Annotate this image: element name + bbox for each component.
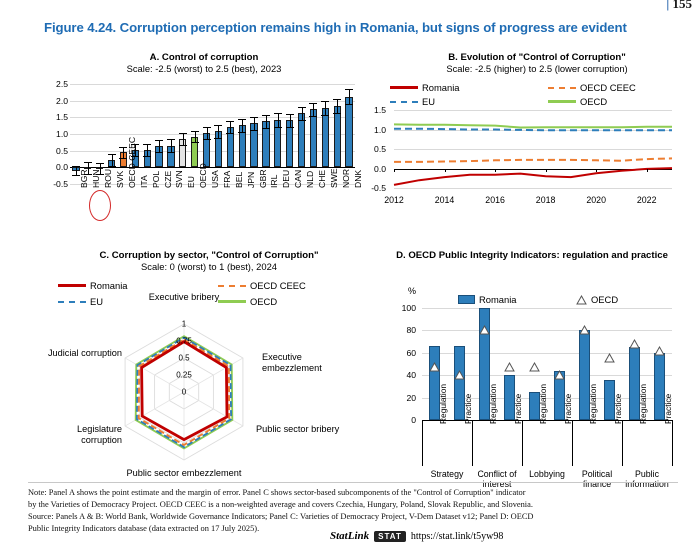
panel-c-axis-label: Public sector embezzlement [124,468,244,479]
panel-b-ytick: 1.5 [362,105,386,115]
panel-b-tick [445,169,446,172]
panel-c-axis-label: Legislature corruption [36,424,122,445]
panel-a-xlabel: HUN [91,169,101,188]
panel-d-oecd-marker [504,362,515,372]
group-separator [672,420,673,466]
panel-a-errorbar-cap [191,142,199,143]
panel-a-errorbar [123,147,124,158]
panel-a-errorbar [218,125,219,138]
panel-d-oecd-marker [629,339,640,349]
panel-a-xlabel: POL [151,171,161,188]
radar-rtick: 0.25 [176,371,192,380]
panel-d-ytick: 20 [390,393,416,403]
panel-d-oecd-marker [604,353,615,363]
panel-b-legend: RomaniaOECD CEECEUOECD [390,82,690,108]
panel-a-errorbar-cap [345,89,353,90]
panel-a-errorbar-cap [321,115,329,116]
statlink-url[interactable]: https://stat.link/t5yw98 [411,531,504,542]
note-line-3: Source: Panels A & B: World Bank, Worldw… [28,511,678,523]
panel-a-errorbar-cap [309,116,317,117]
group-separator [472,420,473,466]
note-line-2: by the Varieties of Democracy Project. O… [28,499,678,511]
group-separator [422,420,423,466]
panel-a-ytick: 1.0 [40,129,68,139]
panel-a-errorbar-cap [238,119,246,120]
legend-swatch-icon [548,100,576,103]
panel-a-errorbar-cap [84,162,92,163]
panel-b-legend-item: OECD [548,96,607,107]
panel-d-sublabel: Regulation [438,384,448,424]
panel-a-ytick: 0.5 [40,146,68,156]
panel-d-ytick: 60 [390,348,416,358]
panel-a-errorbar-cap [286,127,294,128]
panel-a-errorbar [230,121,231,133]
panel-b-legend-item: OECD CEEC [548,82,636,93]
panel-b-series-romania [394,168,672,185]
panel-d: D. OECD Public Integrity Indicators: reg… [372,250,692,485]
panel-c-legend-label: Romania [90,280,128,291]
panel-a-errorbar-cap [321,101,329,102]
panel-a-errorbar [183,133,184,145]
panel-a-xlabel: CAN [293,170,303,188]
panel-d-legend-label: OECD [591,294,618,305]
panel-d-sublabel: Regulation [588,384,598,424]
panel-b-tick [647,169,648,172]
panel-a-errorbar-cap [309,103,317,104]
panel-a-errorbar-cap [108,154,116,155]
panel-d-legend-label: Romania [479,294,517,305]
panel-b-ytick: 0.5 [362,144,386,154]
legend-swatch-icon [548,87,576,89]
panel-c-axis-label: Judicial corruption [26,348,122,359]
panel-d-ytick: 0 [390,415,416,425]
panel-a-title: A. Control of corruption [44,52,364,63]
panel-a-xlabel: CZE [163,171,173,188]
panel-a-errorbar [266,115,267,128]
panel-b-series-oecd [394,124,672,127]
panel-b-xtick: 2012 [384,195,404,205]
panel-a-errorbar [159,140,160,151]
panel-a-errorbar-cap [155,152,163,153]
panel-a-errorbar-cap [250,117,258,118]
panel-a-errorbar-cap [143,144,151,145]
panel-c-title: C. Corruption by sector, "Control of Cor… [44,250,374,261]
panel-b-xtick: 2014 [435,195,455,205]
panel-a-xlabel: GBR [258,169,268,188]
group-separator [622,420,623,466]
panel-b-tick [394,169,395,172]
panel-a-errorbar-cap [214,138,222,139]
statlink-label: StatLink [330,530,369,542]
panel-a-errorbar-cap [226,121,234,122]
panel-a-bar[interactable] [298,113,305,167]
statlink: StatLinkSTAThttps://stat.link/t5yw98 [330,530,503,542]
group-separator [572,420,573,466]
panel-c-radar-svg [44,306,374,481]
panel-d-legend: RomaniaOECD [418,294,678,308]
panel-a-errorbar [254,117,255,130]
gridline [70,101,355,102]
panel-a-ytick: 1.5 [40,112,68,122]
panel-a-bar[interactable] [322,108,329,167]
panel-a-errorbar-cap [108,166,116,167]
panel-a-errorbar-cap [96,163,104,164]
panel-a-errorbar [302,107,303,120]
panel-a-xlabel: OECD CEEC [127,137,137,188]
panel-d-oecd-marker [429,362,440,372]
panel-a-xlabel: CHE [317,170,327,188]
panel-d-sublabel: Regulation [638,384,648,424]
panel-d-group-label: Lobbying [522,470,572,480]
radar-rtick: 0.75 [176,337,192,346]
panel-b-legend-label: OECD [580,96,607,107]
panel-b-ytick: -0.5 [362,183,386,193]
panel-a-errorbar-cap [333,113,341,114]
panel-a-errorbar [325,101,326,115]
panel-a-xlabel: ROU [103,169,113,188]
panel-d-sublabel: Regulation [538,384,548,424]
panel-c: C. Corruption by sector, "Control of Cor… [44,250,374,485]
statlink-badge-icon: STAT [374,531,406,542]
panel-d-legend-item-romania: Romania [458,294,517,305]
panel-a-errorbar-cap [203,127,211,128]
legend-swatch-icon [58,301,86,303]
page-number: | 155 [666,0,692,12]
panel-b-xtick: 2016 [485,195,505,205]
panel-a-bar[interactable] [310,109,317,167]
panel-d-group-label: Strategy [422,470,472,480]
panel-a-errorbar-cap [179,133,187,134]
panel-b-lines [394,110,672,188]
legend-bar-swatch-icon [458,295,475,304]
gridline [422,330,672,331]
panel-b-legend-label: EU [422,96,435,107]
panel-a-ytick: 2.5 [40,79,68,89]
panel-a-errorbar [349,89,350,104]
panel-b-ytick: 0.0 [362,164,386,174]
panel-a-errorbar-cap [250,130,258,131]
panel-a-xlabel: DEU [281,170,291,188]
panel-a-ytick: 0.0 [40,162,68,172]
panel-d-legend-item-oecd: OECD [576,294,618,305]
panel-c-radar: 00.250.50.751Executive briberyExecutive … [44,306,374,481]
panel-b: B. Evolution of "Control of Corruption" … [362,52,692,237]
legend-swatch-icon [390,86,418,89]
panel-a-errorbar [290,114,291,127]
radar-rtick: 1 [182,320,186,329]
figure-title: Figure 4.24. Corruption perception remai… [44,20,664,35]
panel-c-axis-label: Executive embezzlement [262,352,348,373]
panel-a-xlabel: SVN [174,170,184,188]
legend-swatch-icon [58,284,86,287]
panel-a-ytick: -0.5 [40,179,68,189]
panel-a-xlabel: EU [186,176,196,188]
panel-a-errorbar [112,154,113,166]
panel-b-legend-item: EU [390,96,435,107]
panel-a-errorbar-cap [191,131,199,132]
panel-c-subtitle: Scale: 0 (worst) to 1 (best), 2024 [44,261,374,272]
panel-a-errorbar-cap [155,140,163,141]
panel-a-errorbar-cap [262,128,270,129]
panel-a-errorbar [207,127,208,139]
panel-a-errorbar [278,113,279,126]
radar-rtick: 0 [182,388,186,397]
panel-a-errorbar-cap [333,99,341,100]
panel-b-subtitle: Scale: -2.5 (higher) to 2.5 (lower corru… [362,63,692,74]
panel-b-tick [495,169,496,172]
panel-d-ytick: 80 [390,325,416,335]
panel-b-legend-label: OECD CEEC [580,82,636,93]
panel-a-errorbar [242,119,243,132]
panel-a-errorbar-cap [262,115,270,116]
panel-a-bar[interactable] [334,106,341,168]
panel-c-axis-label: Executive bribery [124,292,244,303]
panel-a-xlabel: JPN [246,172,256,188]
panel-a-subtitle: Scale: -2.5 (worst) to 2.5 (best), 2023 [44,63,364,74]
panel-a-xlabel: OECD [198,163,208,188]
panel-d-oecd-marker [554,370,565,380]
panel-a-xlabel: ITA [139,175,149,188]
legend-swatch-icon [390,101,418,103]
panel-a-xlabel: SVK [115,171,125,188]
panel-a-xlabel: USA [210,170,220,188]
panel-a-errorbar [313,103,314,116]
panel-a-xlabel: NOR [341,169,351,188]
panel-a-errorbar-cap [167,152,175,153]
panel-a-xlabel: DNK [353,170,363,188]
panel-a-xlabel: SWE [329,168,339,188]
panel-b-plot [394,110,672,188]
panel-a-errorbar-cap [203,139,211,140]
panel-d-ytick: 100 [390,303,416,313]
panel-d-ytick: 40 [390,370,416,380]
panel-a-xlabel: BEL [234,172,244,188]
group-separator [522,420,523,466]
gridline [394,188,672,189]
panel-d-oecd-marker [454,370,465,380]
panel-b-legend-label: Romania [422,82,460,93]
panel-a-errorbar [147,144,148,156]
panel-b-legend-item: Romania [390,82,460,93]
panel-b-tick [546,169,547,172]
panel-a: A. Control of corruption Scale: -2.5 (wo… [44,52,364,237]
panel-b-series-oecd-ceec [394,158,672,162]
panel-c-axis-label: Public sector bribery [256,424,366,435]
panel-a-errorbar [76,166,77,175]
triangle-marker-icon [576,295,587,305]
panel-c-legend-item: OECD CEEC [218,280,306,291]
panel-a-errorbar-cap [214,125,222,126]
panel-b-tick [596,169,597,172]
panel-b-ytick: 1.0 [362,125,386,135]
panel-a-errorbar-cap [238,132,246,133]
panel-b-xtick: 2018 [536,195,556,205]
panel-c-legend-label: OECD CEEC [250,280,306,291]
panel-a-errorbar-cap [167,139,175,140]
panel-a-xlabel: BGR [79,169,89,188]
panel-c-legend-item: Romania [58,280,128,291]
panel-d-ylabel: % [408,286,416,296]
panel-a-errorbar-cap [274,127,282,128]
panel-a-errorbar [171,139,172,152]
radar-rtick: 0.5 [178,354,189,363]
figure-note: Note: Panel A shows the point estimate a… [28,487,678,535]
panel-b-xtick: 2020 [586,195,606,205]
panel-a-errorbar-cap [298,120,306,121]
panel-a-ytick: 2.0 [40,96,68,106]
panel-b-xtick: 2022 [637,195,657,205]
gridline [70,84,355,85]
panel-a-errorbar-cap [298,107,306,108]
note-line-1: Note: Panel A shows the point estimate a… [28,487,678,499]
panel-d-oecd-marker [479,325,490,335]
panel-a-bar[interactable] [345,97,352,168]
panel-a-errorbar-cap [226,133,234,134]
legend-swatch-icon [218,285,246,287]
panel-d-oecd-marker [529,362,540,372]
panel-b-series-eu [394,129,672,131]
panel-a-xlabel: FRA [222,171,232,188]
panel-d-oecd-marker [579,325,590,335]
panel-a-errorbar-cap [286,114,294,115]
note-divider [28,482,678,483]
panel-a-errorbar-cap [179,145,187,146]
panel-d-oecd-marker [654,346,665,356]
panel-a-xlabel: NLD [305,171,315,188]
panel-d-sublabel: Regulation [488,384,498,424]
panel-d-title: D. OECD Public Integrity Indicators: reg… [372,250,692,261]
panel-a-errorbar-cap [345,104,353,105]
panel-a-errorbar [195,131,196,142]
panel-a-errorbar [337,99,338,113]
panel-a-errorbar-cap [274,113,282,114]
gridline [422,308,672,309]
panel-a-errorbar-cap [143,156,151,157]
panel-a-errorbar-cap [72,166,80,167]
panel-b-title: B. Evolution of "Control of Corruption" [362,52,692,63]
panel-a-xlabel: IRL [269,175,279,188]
rou-highlight-ellipse [89,190,111,221]
